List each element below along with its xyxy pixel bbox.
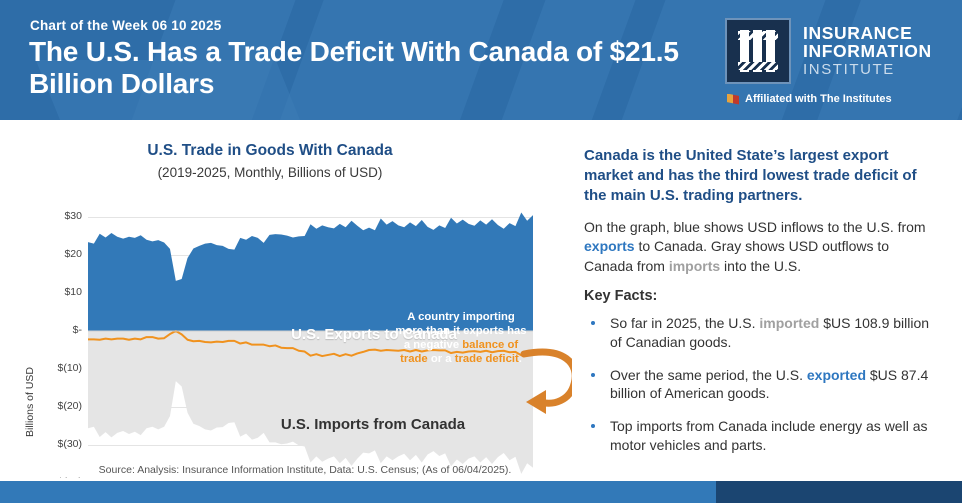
logo-line-2: INFORMATION [803, 43, 932, 61]
bullet-icon [591, 321, 595, 325]
affiliation-label: Affiliated with The Institutes [745, 93, 892, 105]
callout-highlight-2: trade deficit [455, 353, 519, 365]
y-tick-label: $(20) [36, 400, 82, 412]
key-facts-heading: Key Facts: [584, 288, 657, 304]
page-title: The U.S. Has a Trade Deficit With Canada… [29, 36, 689, 100]
sidebar-lead-text: Canada is the United State’s largest exp… [584, 146, 932, 205]
infographic-page: Chart of the Week 06 10 2025 The U.S. Ha… [0, 0, 962, 503]
y-tick-label: $20 [36, 248, 82, 260]
footer-bar-left [0, 481, 716, 503]
chart-callout-annotation: A country importing more than it exports… [394, 310, 528, 366]
chart-title: U.S. Trade in Goods With Canada [0, 142, 540, 160]
sidebar-panel: Canada is the United State’s largest exp… [572, 120, 962, 478]
chart-panel: U.S. Trade in Goods With Canada (2019-20… [0, 120, 562, 478]
y-tick-label: $(10) [36, 362, 82, 374]
chart-subtitle: (2019-2025, Monthly, Billions of USD) [0, 165, 540, 180]
header-kicker: Chart of the Week 06 10 2025 [30, 18, 221, 33]
bullet-icon [591, 424, 595, 428]
body-part-1: On the graph, blue shows USD inflows to … [584, 219, 926, 235]
body-imports-emphasis: imports [669, 258, 720, 274]
y-axis-title: Billions of USD [24, 332, 36, 472]
chart-plot-area: $30$20$10$-$(10)$(20)$(30)$(40) 20192020… [88, 198, 533, 483]
sidebar-body-text: On the graph, blue shows USD inflows to … [584, 218, 936, 276]
header-banner: Chart of the Week 06 10 2025 The U.S. Ha… [0, 0, 962, 120]
body-part-3: into the U.S. [720, 258, 801, 274]
logo-line-3: INSTITUTE [803, 62, 932, 77]
footer-bar [0, 478, 962, 503]
key-fact-item: Top imports from Canada include energy a… [584, 417, 944, 455]
y-tick-label: $30 [36, 210, 82, 222]
y-tick-label: $(30) [36, 438, 82, 450]
key-facts-list: So far in 2025, the U.S. imported $US 10… [584, 314, 944, 469]
series-label-imports: U.S. Imports from Canada [278, 416, 468, 434]
fact-text-pre: Over the same period, the U.S. [610, 367, 807, 383]
fact-emphasis: exported [807, 367, 866, 383]
fact-text-pre: Top imports from Canada include energy a… [610, 418, 928, 453]
three-pillars-icon [725, 18, 791, 84]
chart-source-note: Source: Analysis: Insurance Information … [70, 464, 540, 476]
callout-part-2: or a [428, 353, 455, 365]
key-fact-item: Over the same period, the U.S. exported … [584, 366, 944, 404]
y-tick-label: $- [36, 324, 82, 336]
body-exports-emphasis: exports [584, 238, 635, 254]
affiliation-note: Affiliated with The Institutes [727, 93, 940, 105]
logo-block: INSURANCE INFORMATION INSTITUTE Affiliat… [725, 18, 940, 105]
y-tick-label: $10 [36, 286, 82, 298]
fact-text-pre: So far in 2025, the U.S. [610, 315, 759, 331]
institutes-flag-icon [727, 94, 739, 105]
key-fact-item: So far in 2025, the U.S. imported $US 10… [584, 314, 944, 352]
bullet-icon [591, 373, 595, 377]
fact-emphasis: imported [759, 315, 819, 331]
footer-bar-right [716, 481, 962, 503]
